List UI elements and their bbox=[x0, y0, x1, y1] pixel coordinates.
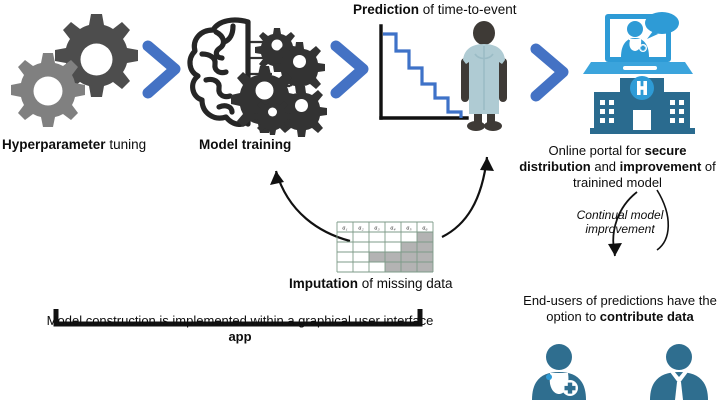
portal-line2-bold-b: improvement bbox=[620, 159, 702, 174]
prediction-title: Prediction of time-to-event bbox=[353, 2, 517, 17]
table-header-cell: a₃ bbox=[374, 224, 379, 231]
portal-line1-bold: secure bbox=[645, 143, 687, 158]
chevron-right-icon bbox=[530, 45, 572, 101]
app-line1: Model construction bbox=[47, 313, 156, 328]
app-bracket-description: Model construction is implemented within… bbox=[45, 313, 435, 345]
table-header-cell: a₄ bbox=[390, 224, 395, 231]
table-cell-shaded bbox=[385, 252, 401, 262]
step-label-bold: Model training bbox=[199, 137, 291, 152]
chevron-right-icon bbox=[142, 42, 184, 98]
table-cell-shaded bbox=[417, 262, 433, 272]
app-line2: is implemented bbox=[159, 313, 246, 328]
step-label-model-training: Model training bbox=[199, 137, 291, 152]
patient-icon bbox=[455, 22, 513, 134]
table-cell-shaded bbox=[369, 252, 385, 262]
clinician-icon bbox=[528, 344, 590, 400]
prediction-title-rest: of time-to-event bbox=[419, 2, 517, 17]
table-header-cell: a₂ bbox=[358, 224, 363, 231]
imputation-label: Imputation of missing data bbox=[289, 276, 453, 291]
chevron-right-icon bbox=[330, 42, 372, 98]
table-cell-shaded bbox=[401, 242, 417, 252]
brain-gears-icon bbox=[186, 14, 318, 136]
loop-label-line2: model bbox=[631, 208, 664, 222]
app-line3-plain: within a graphical user interface bbox=[250, 313, 433, 328]
table-header-cell: a₁ bbox=[342, 224, 347, 231]
portal-line1-plain: Online portal for bbox=[548, 143, 644, 158]
table-cell-shaded bbox=[385, 262, 401, 272]
imputation-label-bold: Imputation bbox=[289, 276, 358, 291]
enduser-person-icon bbox=[648, 344, 710, 400]
endusers-line3-bold: contribute data bbox=[600, 309, 694, 324]
step-label-rest: tuning bbox=[106, 137, 147, 152]
table-cell-shaded bbox=[417, 242, 433, 252]
workflow-diagram: Hyperparameter tuning bbox=[0, 0, 720, 402]
table-cell-shaded bbox=[417, 252, 433, 262]
step-label-hyperparameter-tuning: Hyperparameter tuning bbox=[2, 137, 146, 152]
endusers-description: End-users of predictions have the option… bbox=[520, 293, 720, 325]
table-header-cell: a₅ bbox=[406, 224, 411, 231]
app-line3-bold: app bbox=[228, 329, 251, 344]
step-label-bold: Hyperparameter bbox=[2, 137, 106, 152]
hospital-icon bbox=[590, 72, 695, 134]
table-cell-shaded bbox=[401, 252, 417, 262]
imputation-table: a₁a₂a₃a₄a₅a₆ bbox=[336, 221, 434, 271]
endusers-line1: End-users of predictions bbox=[523, 293, 663, 308]
portal-line2-bold-a: distribution bbox=[519, 159, 591, 174]
loop-label-line1: Continual bbox=[577, 208, 628, 222]
prediction-title-bold: Prediction bbox=[353, 2, 419, 17]
arrow-imputation-to-portal bbox=[440, 145, 510, 240]
loop-label: Continual model improvement bbox=[575, 208, 665, 236]
table-header-cell: a₆ bbox=[422, 224, 427, 231]
loop-label-line3: improvement bbox=[585, 222, 654, 236]
portal-line2-plain: and bbox=[591, 159, 620, 174]
imputation-label-rest: of missing data bbox=[358, 276, 453, 291]
telemedicine-laptop-icon bbox=[585, 12, 700, 77]
portal-description: Online portal for secure distribution an… bbox=[515, 143, 720, 191]
table-cell-shaded bbox=[401, 262, 417, 272]
table-cell-shaded bbox=[417, 232, 433, 242]
gears-icon bbox=[5, 8, 140, 133]
